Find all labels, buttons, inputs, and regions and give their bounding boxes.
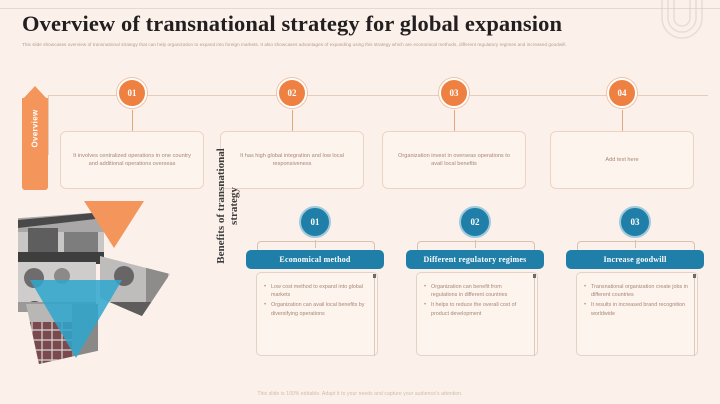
benefit-bracket-tick-2 (475, 240, 476, 248)
timeline-card-4[interactable]: Add text here (550, 131, 694, 189)
timeline-stem-1 (132, 110, 133, 132)
overview-label-text: Overview (31, 89, 40, 169)
timeline-card-3[interactable]: Organization invest in overseas operatio… (382, 131, 526, 189)
timeline-card-text-2: It has high global integration and low l… (230, 152, 354, 169)
benefit-bullet: Organization can benefit from regulation… (431, 283, 529, 299)
timeline-stem-3 (454, 110, 455, 132)
timeline-badge-2: 02 (277, 78, 307, 108)
benefit-bracket-tick-1 (315, 240, 316, 248)
scrollbar-thumb[interactable] (693, 274, 696, 278)
benefit-body-1[interactable]: Low cost method to expand into global ma… (256, 272, 378, 356)
benefit-column-3: 03 Increase goodwill Transnational organ… (560, 196, 710, 366)
photo-collage (12, 198, 172, 370)
benefit-scrollbar-2[interactable] (533, 274, 536, 356)
timeline-card-text-1: It involves centralized operations in on… (70, 152, 194, 169)
triangle-orange-icon (84, 201, 144, 248)
scrollbar-thumb[interactable] (533, 274, 536, 278)
benefit-column-1: 01 Economical method Low cost method to … (240, 196, 390, 366)
timeline-card-text-4: Add text here (605, 156, 638, 164)
benefit-bullet: Low cost method to expand into global ma… (271, 283, 369, 299)
slide-header: Overview of transnational strategy for g… (0, 0, 720, 68)
benefit-badge-1: 01 (299, 206, 331, 238)
benefit-body-2[interactable]: Organization can benefit from regulation… (416, 272, 538, 356)
timeline-section: Overview 01 It involves centralized oper… (0, 68, 720, 196)
benefit-bullet: Transnational organization create jobs i… (591, 283, 689, 299)
scrollbar-thumb[interactable] (373, 274, 376, 278)
benefit-scrollbar-3[interactable] (693, 274, 696, 356)
timeline-axis-left-cap (48, 95, 49, 155)
page-title: Overview of transnational strategy for g… (22, 11, 562, 37)
triangle-blue-icon (30, 280, 122, 358)
benefits-section-title: Benefits of transnational strategy (215, 131, 235, 281)
timeline-card-1[interactable]: It involves centralized operations in on… (60, 131, 204, 189)
benefit-bullet: Organization can avail local benefits by… (271, 301, 369, 317)
benefit-badge-3: 03 (619, 206, 651, 238)
timeline-stem-4 (622, 110, 623, 132)
benefit-heading-3[interactable]: Increase goodwill (566, 250, 704, 269)
timeline-badge-1: 01 (117, 78, 147, 108)
timeline-badge-4: 04 (607, 78, 637, 108)
benefit-scrollbar-1[interactable] (373, 274, 376, 356)
benefit-bullet: It helps to reduce the overall cost of p… (431, 301, 529, 317)
benefit-bracket-tick-3 (635, 240, 636, 248)
u-shape-logo-watermark-icon (654, 0, 710, 42)
benefit-column-2: 02 Different regulatory regimes Organiza… (400, 196, 550, 366)
overview-arrow-label: Overview (22, 86, 48, 190)
scrollbar-track (374, 274, 375, 356)
timeline-stem-2 (292, 110, 293, 132)
benefit-heading-2[interactable]: Different regulatory regimes (406, 250, 544, 269)
scrollbar-track (534, 274, 535, 356)
header-divider (0, 8, 720, 9)
timeline-card-text-3: Organization invest in overseas operatio… (392, 152, 516, 169)
timeline-card-2[interactable]: It has high global integration and low l… (220, 131, 364, 189)
scrollbar-track (694, 274, 695, 356)
timeline-badge-3: 03 (439, 78, 469, 108)
benefit-bullet: It results in increased brand recognitio… (591, 301, 689, 317)
footer-note: This slide is 100% editable. Adapt it to… (0, 391, 720, 397)
benefit-body-3[interactable]: Transnational organization create jobs i… (576, 272, 698, 356)
benefit-heading-1[interactable]: Economical method (246, 250, 384, 269)
page-subtitle: This slide showcases overview of transna… (22, 41, 694, 49)
benefit-badge-2: 02 (459, 206, 491, 238)
